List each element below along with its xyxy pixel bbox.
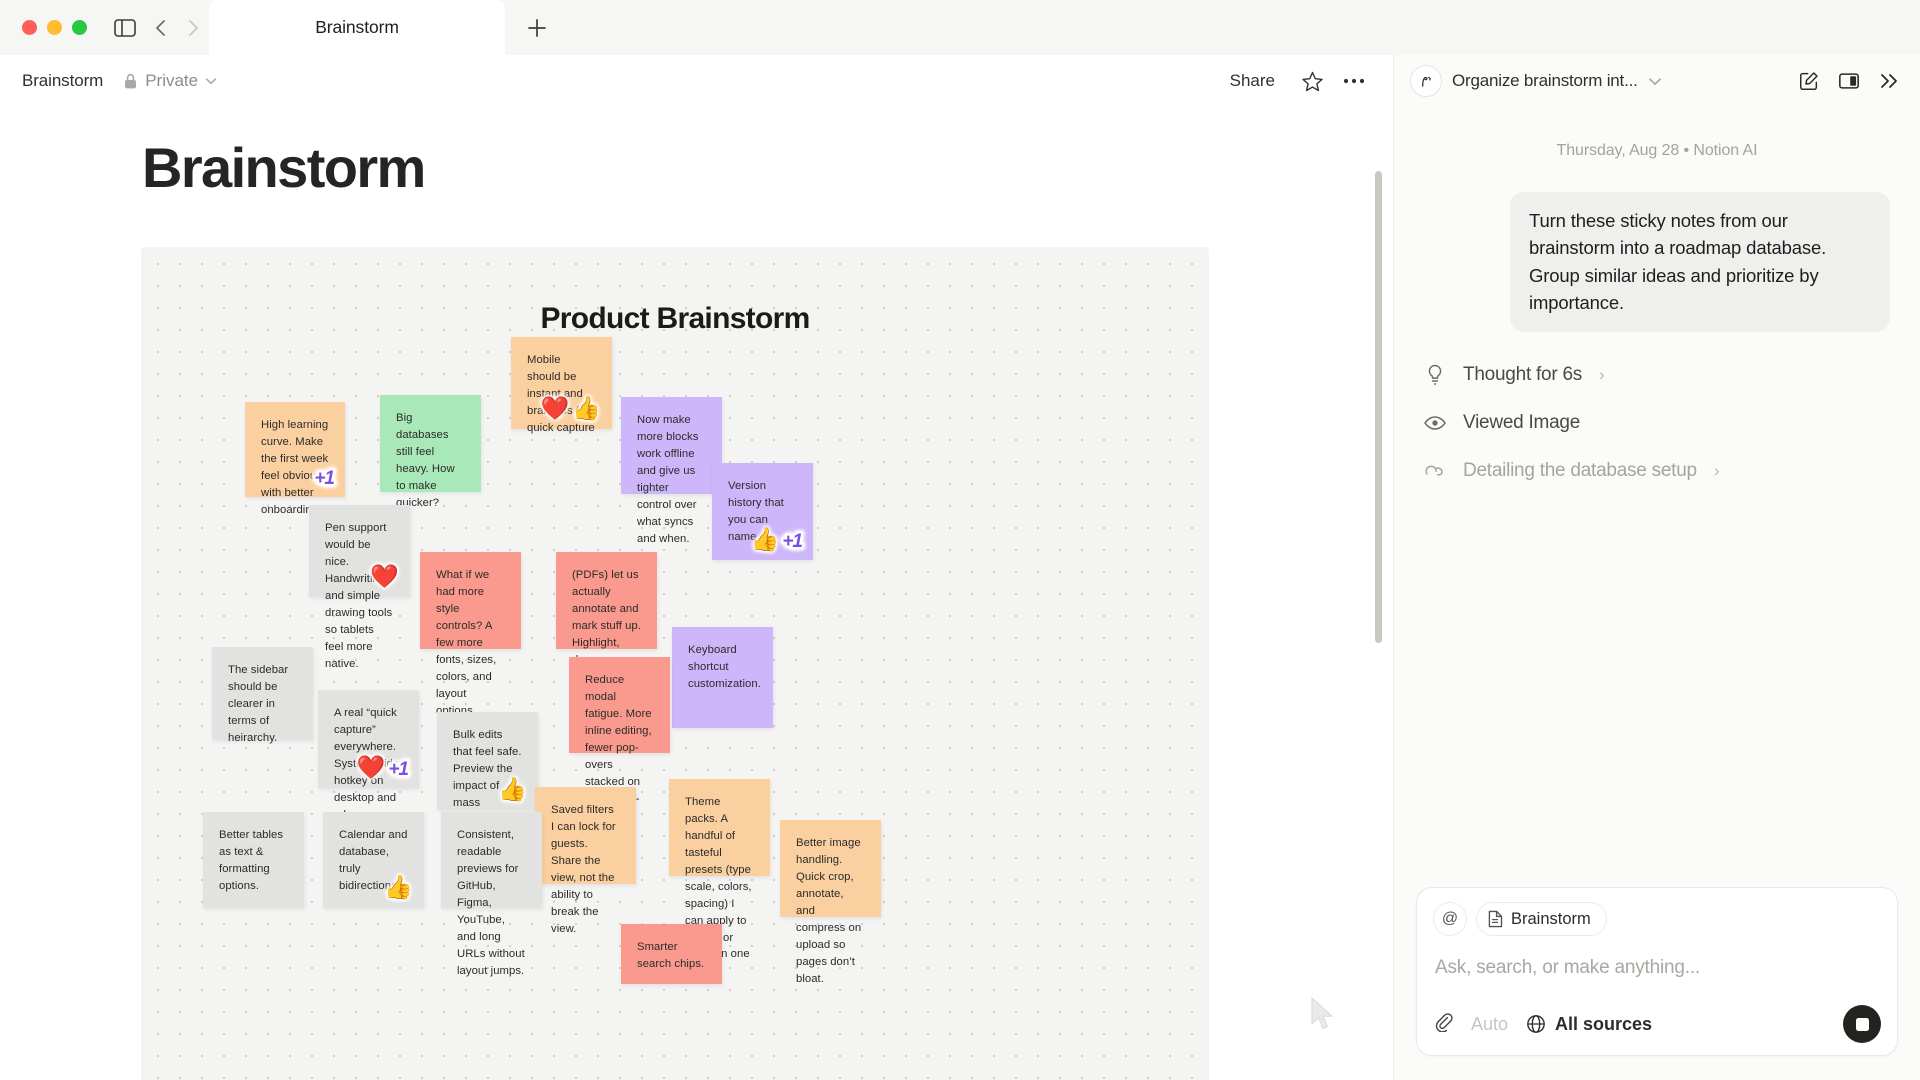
- reaction-plus-one[interactable]: +1: [314, 469, 334, 488]
- ai-conversation-title[interactable]: Organize brainstorm int...: [1452, 71, 1638, 91]
- document-header: Brainstorm Private Share: [0, 55, 1393, 107]
- window-traffic-lights: [0, 0, 105, 55]
- conversation-date: Thursday, Aug 28: [1557, 142, 1680, 159]
- chevron-left-icon: [154, 18, 168, 38]
- lightbulb-icon: [1424, 364, 1446, 386]
- sticky-note[interactable]: Reduce modal fatigue. More inline editin…: [569, 657, 670, 753]
- stop-square-icon: [1856, 1018, 1869, 1031]
- sticky-note-text: The sidebar should be clearer in terms o…: [228, 662, 297, 747]
- sticky-note[interactable]: Smarter search chips.: [621, 924, 722, 984]
- sticky-note-reactions: ❤️+1: [357, 756, 408, 779]
- ai-panel-actions: [1792, 64, 1906, 98]
- chevron-right-icon[interactable]: ›: [1714, 461, 1720, 481]
- model-mode-button[interactable]: Auto: [1471, 1014, 1508, 1035]
- ai-step-list: Thought for 6s›Viewed ImageDetailing the…: [1424, 364, 1890, 482]
- reaction-heart-icon[interactable]: ❤️: [357, 756, 386, 779]
- reaction-thumbsup-icon[interactable]: 👍: [572, 397, 601, 420]
- breadcrumb[interactable]: Brainstorm: [22, 71, 103, 91]
- privacy-selector[interactable]: Private: [123, 71, 217, 91]
- sticky-note-text: Pen support would be nice. Handwriting a…: [325, 520, 394, 672]
- context-chip-brainstorm[interactable]: Brainstorm: [1476, 902, 1607, 936]
- compose-icon: [1798, 70, 1820, 92]
- sticky-note-reactions: 👍: [498, 778, 527, 801]
- eye-icon: [1424, 415, 1446, 431]
- collapse-panel-button[interactable]: [1872, 64, 1906, 98]
- reaction-heart-icon[interactable]: ❤️: [541, 397, 570, 420]
- reaction-thumbsup-icon[interactable]: 👍: [751, 528, 780, 551]
- sticky-note[interactable]: A real “quick capture” everywhere. Syste…: [318, 690, 419, 788]
- paperclip-icon: [1433, 1012, 1453, 1032]
- sticky-note-reactions: 👍: [384, 876, 413, 899]
- page-title[interactable]: Brainstorm: [142, 135, 425, 200]
- chevron-right-icon: [186, 18, 200, 38]
- sticky-note[interactable]: Theme packs. A handful of tasteful prese…: [669, 779, 770, 876]
- ai-composer[interactable]: @ Brainstorm Ask, search, or make anythi…: [1416, 887, 1898, 1056]
- composer-toolbar: Auto All sources: [1433, 1005, 1881, 1043]
- tab-label: Brainstorm: [315, 17, 399, 38]
- chevrons-right-icon: [1878, 72, 1900, 90]
- sticky-note-text: Big databases still feel heavy. How to m…: [396, 410, 465, 512]
- ellipsis-icon: [1343, 78, 1365, 84]
- sources-selector-button[interactable]: All sources: [1526, 1014, 1652, 1035]
- share-button[interactable]: Share: [1218, 65, 1287, 97]
- sticky-note-text: Consistent, readable previews for GitHub…: [457, 827, 526, 979]
- reaction-plus-one[interactable]: +1: [782, 532, 802, 551]
- sticky-note[interactable]: Version history that you can name.👍+1: [712, 463, 813, 560]
- sticky-note[interactable]: Now make more blocks work offline and gi…: [621, 397, 722, 494]
- ai-step-label: Detailing the database setup: [1463, 460, 1697, 482]
- navigate-forward-button[interactable]: [177, 0, 209, 55]
- sticky-note[interactable]: Better image handling. Quick crop, annot…: [780, 820, 881, 917]
- lock-icon: [123, 73, 138, 90]
- toggle-sidebar-button[interactable]: [105, 0, 145, 55]
- close-window-button[interactable]: [22, 20, 37, 35]
- conversation-meta: Thursday, Aug 28 • Notion AI: [1424, 142, 1890, 160]
- ai-panel-header: Organize brainstorm int...: [1394, 55, 1920, 107]
- ai-avatar: [1410, 65, 1442, 97]
- sticky-note[interactable]: Keyboard shortcut customization.: [672, 627, 773, 728]
- sticky-note[interactable]: Better tables as text & formatting optio…: [203, 812, 304, 908]
- more-options-button[interactable]: [1337, 64, 1371, 98]
- sticky-note-reactions: +1: [314, 469, 334, 488]
- sticky-note-reactions: ❤️: [370, 565, 399, 588]
- sticky-note[interactable]: Mobile should be instant and brainless f…: [511, 337, 612, 429]
- canvas-title: Product Brainstorm: [141, 302, 1209, 336]
- mouse-cursor: [1310, 997, 1336, 1031]
- sticky-note-text: Better image handling. Quick crop, annot…: [796, 835, 865, 987]
- ai-step-1[interactable]: Thought for 6s›: [1424, 364, 1890, 386]
- new-tab-button[interactable]: [505, 0, 569, 55]
- stop-generation-button[interactable]: [1843, 1005, 1881, 1043]
- sticky-note-reactions: ❤️👍: [541, 397, 601, 420]
- sticky-note-text: Keyboard shortcut customization.: [688, 642, 757, 693]
- reaction-plus-one[interactable]: +1: [388, 760, 408, 779]
- minimize-window-button[interactable]: [47, 20, 62, 35]
- sticky-note[interactable]: Big databases still feel heavy. How to m…: [380, 395, 481, 492]
- sticky-note-text: Saved filters I can lock for guests. Sha…: [551, 802, 620, 938]
- globe-icon: [1526, 1014, 1546, 1034]
- sticky-note-text: Smarter search chips.: [637, 939, 706, 973]
- browser-tab-bar: Brainstorm: [0, 0, 1920, 55]
- reaction-heart-icon[interactable]: ❤️: [370, 565, 399, 588]
- meta-separator: •: [1684, 142, 1690, 159]
- composer-context-chips: @ Brainstorm: [1433, 902, 1881, 936]
- context-chip-label: Brainstorm: [1511, 910, 1591, 929]
- toggle-panel-layout-button[interactable]: [1832, 64, 1866, 98]
- sources-label: All sources: [1555, 1014, 1652, 1035]
- sticky-note-reactions: 👍+1: [751, 528, 802, 551]
- panel-layout-icon: [1838, 71, 1860, 91]
- sidebar-icon: [114, 19, 136, 37]
- ai-prompt-input[interactable]: Ask, search, or make anything...: [1435, 957, 1879, 979]
- favorite-button[interactable]: [1295, 64, 1329, 98]
- sticky-note[interactable]: Saved filters I can lock for guests. Sha…: [535, 787, 636, 884]
- user-message-bubble: Turn these sticky notes from our brainst…: [1510, 192, 1890, 332]
- attach-file-button[interactable]: [1433, 1012, 1453, 1037]
- ai-step-3[interactable]: Detailing the database setup›: [1424, 460, 1890, 482]
- sticky-note[interactable]: What if we had more style controls? A fe…: [420, 552, 521, 649]
- brainstorm-canvas[interactable]: Product Brainstorm High learning curve. …: [141, 247, 1209, 1080]
- sticky-note-text: What if we had more style controls? A fe…: [436, 567, 505, 719]
- ai-step-2: Viewed Image: [1424, 412, 1890, 434]
- thinking-icon: [1424, 462, 1446, 480]
- notion-ai-face-icon: [1418, 73, 1435, 90]
- sticky-note[interactable]: (PDFs) let us actually annotate and mark…: [556, 552, 657, 649]
- plus-icon: [527, 18, 547, 38]
- sticky-note[interactable]: Pen support would be nice. Handwriting a…: [309, 505, 410, 597]
- document-body: Brainstorm Product Brainstorm High learn…: [0, 107, 1393, 1080]
- privacy-label: Private: [145, 71, 198, 91]
- chevron-down-icon: [205, 77, 217, 85]
- ai-step-label: Viewed Image: [1463, 412, 1580, 434]
- reaction-thumbsup-icon[interactable]: 👍: [384, 876, 413, 899]
- mention-button[interactable]: @: [1433, 902, 1467, 936]
- ai-step-label: Thought for 6s: [1463, 364, 1582, 386]
- conversation-chevron-down-icon[interactable]: [1648, 77, 1662, 86]
- sticky-note[interactable]: Bulk edits that feel safe. Preview the i…: [437, 712, 538, 810]
- sticky-note[interactable]: High learning curve. Make the first week…: [245, 402, 345, 497]
- sticky-note[interactable]: Calendar and database, truly bidirection…: [323, 812, 424, 908]
- maximize-window-button[interactable]: [72, 20, 87, 35]
- page-document-icon: [1488, 910, 1503, 928]
- ai-chat-panel: Organize brainstorm int...: [1393, 55, 1920, 1080]
- sticky-note-text: Better tables as text & formatting optio…: [219, 827, 288, 895]
- sticky-note[interactable]: The sidebar should be clearer in terms o…: [212, 647, 313, 740]
- new-chat-button[interactable]: [1792, 64, 1826, 98]
- document-header-actions: Share: [1218, 64, 1371, 98]
- ai-conversation-body: Thursday, Aug 28 • Notion AI Turn these …: [1394, 107, 1920, 887]
- chevron-right-icon[interactable]: ›: [1599, 365, 1605, 385]
- sticky-note[interactable]: Consistent, readable previews for GitHub…: [441, 812, 542, 908]
- document-scrollbar[interactable]: [1375, 171, 1382, 643]
- reaction-thumbsup-icon[interactable]: 👍: [498, 778, 527, 801]
- navigate-back-button[interactable]: [145, 0, 177, 55]
- star-icon: [1301, 70, 1324, 93]
- conversation-author: Notion AI: [1693, 142, 1757, 159]
- user-message-row: Turn these sticky notes from our brainst…: [1424, 192, 1890, 332]
- sticky-note-text: Now make more blocks work offline and gi…: [637, 412, 706, 548]
- tab-brainstorm[interactable]: Brainstorm: [209, 0, 505, 55]
